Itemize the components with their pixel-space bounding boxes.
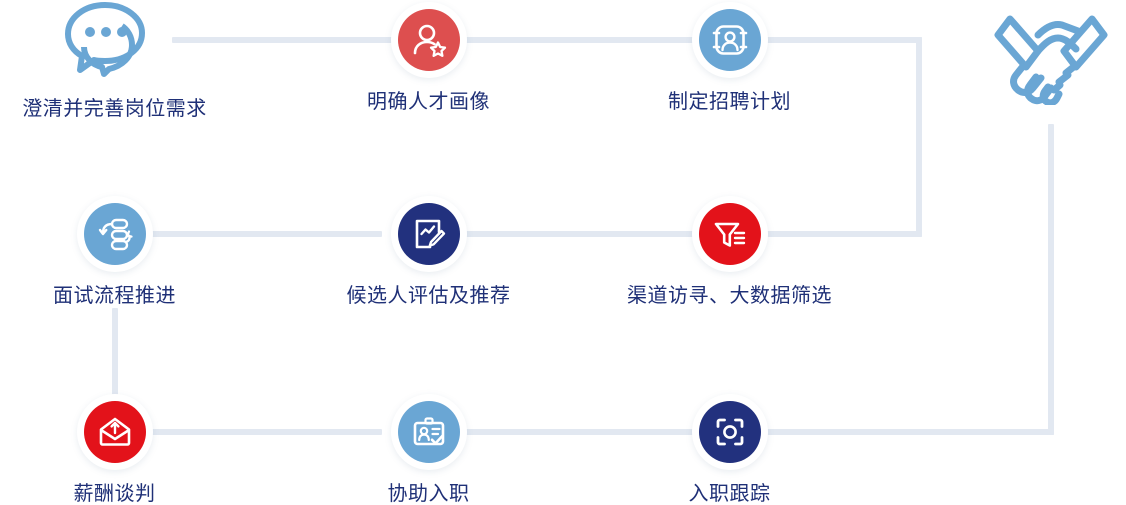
flow-step-4-label: 渠道访寻、大数据筛选 [627, 286, 832, 306]
step-9-badge [699, 401, 761, 463]
flow-diagram: 澄清并完善岗位需求 明确人才画像 [0, 0, 1126, 501]
connector-row1-row2-vertical [916, 37, 922, 237]
flow-step-6[interactable]: 面试流程推进 [12, 203, 217, 306]
flow-step-7[interactable]: 薪酬谈判 [12, 401, 217, 504]
person-frame-icon [712, 22, 748, 58]
flow-step-9[interactable]: 入职跟踪 [627, 401, 832, 504]
flow-step-5[interactable]: 候选人评估及推荐 [326, 203, 531, 306]
step-5-badge [398, 203, 460, 265]
flow-step-3[interactable]: 制定招聘计划 [627, 9, 832, 112]
viewfinder-icon [712, 414, 748, 450]
flow-step-2-label: 明确人才画像 [367, 92, 490, 112]
flow-step-1[interactable]: 澄清并完善岗位需求 [12, 0, 217, 119]
id-card-check-icon [411, 414, 447, 450]
flow-step-4[interactable]: 渠道访寻、大数据筛选 [627, 203, 832, 306]
flow-step-8-label: 协助入职 [388, 484, 470, 504]
flow-step-5-label: 候选人评估及推荐 [347, 286, 511, 306]
flow-step-6-label: 面试流程推进 [53, 286, 176, 306]
handshake-icon [988, 5, 1114, 110]
flow-step-1-label: 澄清并完善岗位需求 [22, 99, 207, 119]
step-8-badge [398, 401, 460, 463]
flow-step-8[interactable]: 协助入职 [326, 401, 531, 504]
connector-handshake-vertical [1048, 124, 1054, 435]
chat-bubbles-icon [60, 0, 170, 78]
funnel-filter-icon [712, 216, 748, 252]
flow-step-2[interactable]: 明确人才画像 [326, 9, 531, 112]
flow-nodes-icon [97, 216, 133, 252]
flow-step-7-label: 薪酬谈判 [74, 484, 156, 504]
step-4-badge [699, 203, 761, 265]
flow-step-3-label: 制定招聘计划 [668, 92, 791, 112]
step-6-badge [84, 203, 146, 265]
document-pen-icon [411, 216, 447, 252]
person-star-icon [411, 22, 447, 58]
flow-step-9-label: 入职跟踪 [689, 484, 771, 504]
step-7-badge [84, 401, 146, 463]
step-3-badge [699, 9, 761, 71]
step-2-badge [398, 9, 460, 71]
envelope-up-icon [97, 414, 133, 450]
